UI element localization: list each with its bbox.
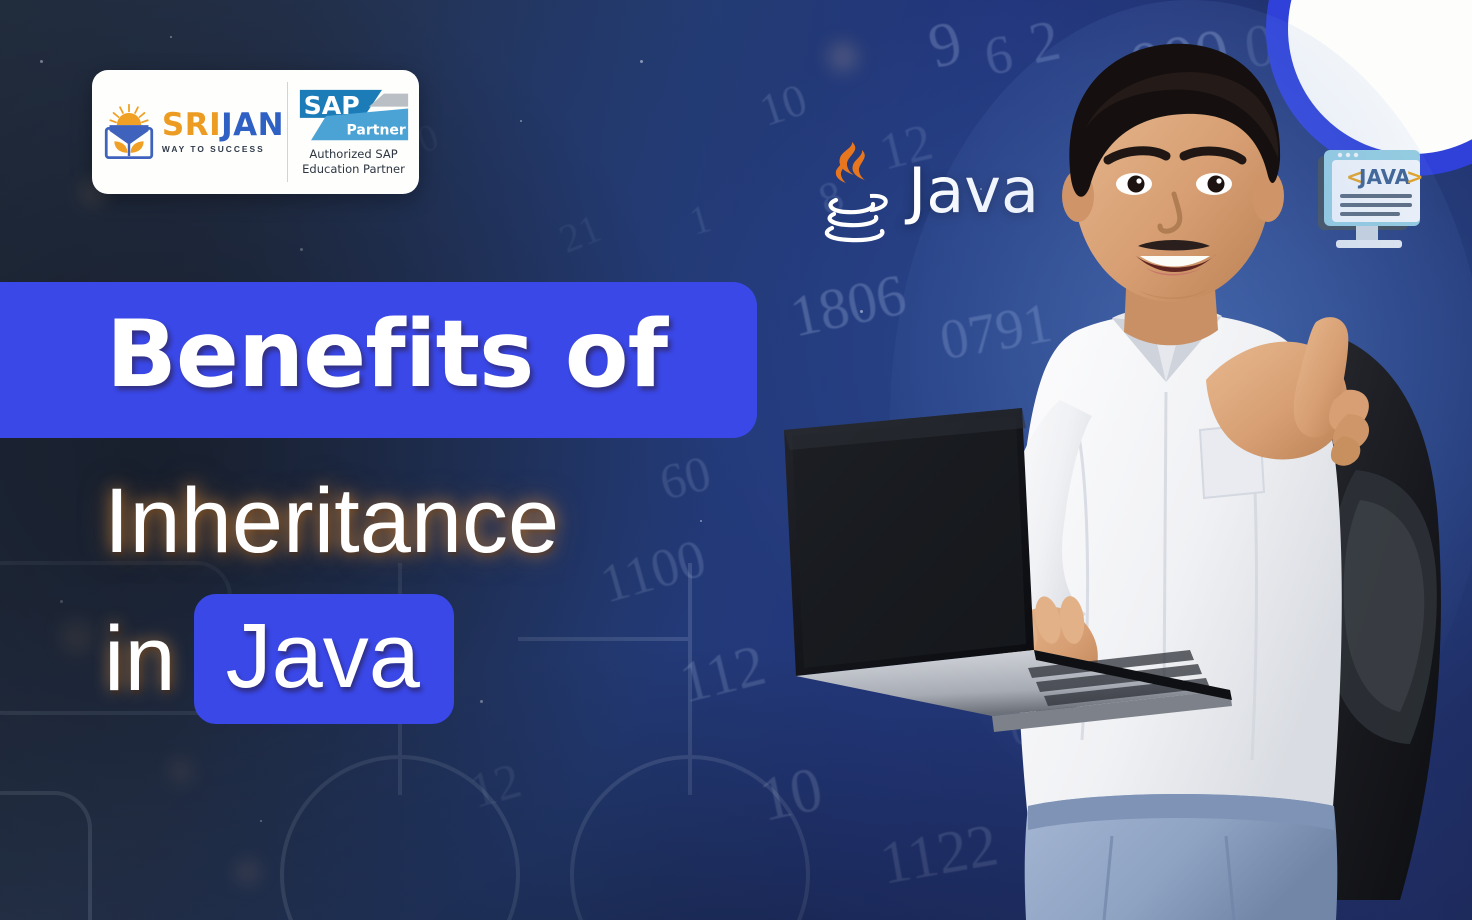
sunrise-book-icon [103,104,155,160]
headline-line-2: Inheritance [104,464,559,579]
sap-caption-line-2: Education Partner [302,162,405,176]
poster-canvas: 9 6 2 000 0 10 12 11 0 8 1 1806 0791 12 … [0,0,1472,920]
headline-line-1: Benefits of [106,292,667,418]
srijan-wordmark: SRIJAN WAY TO SUCCESS [162,110,284,153]
headline-line-3-highlight: Java [194,594,454,724]
svg-text:SAP: SAP [303,91,359,120]
sap-caption-line-1: Authorized SAP [309,147,397,161]
svg-text:Partner: Partner [346,122,405,138]
sap-partner-logo: SAP Partner Authorized SAP Education Par… [288,70,419,194]
srijan-name-part-1: SRI [162,107,221,143]
srijan-tagline: WAY TO SUCCESS [162,145,284,153]
headline-line-3: in Java [104,594,454,724]
student-hero-image [760,0,1472,920]
srijan-logo: SRIJAN WAY TO SUCCESS [92,70,287,194]
sap-partner-badge-icon: SAP Partner [298,88,410,144]
headline-line-3-prefix: in [104,602,194,717]
srijan-name-part-2: JAN [221,107,284,143]
sap-caption: Authorized SAP Education Partner [302,147,405,176]
brand-logo-card: SRIJAN WAY TO SUCCESS SAP Partner Author… [92,70,419,194]
